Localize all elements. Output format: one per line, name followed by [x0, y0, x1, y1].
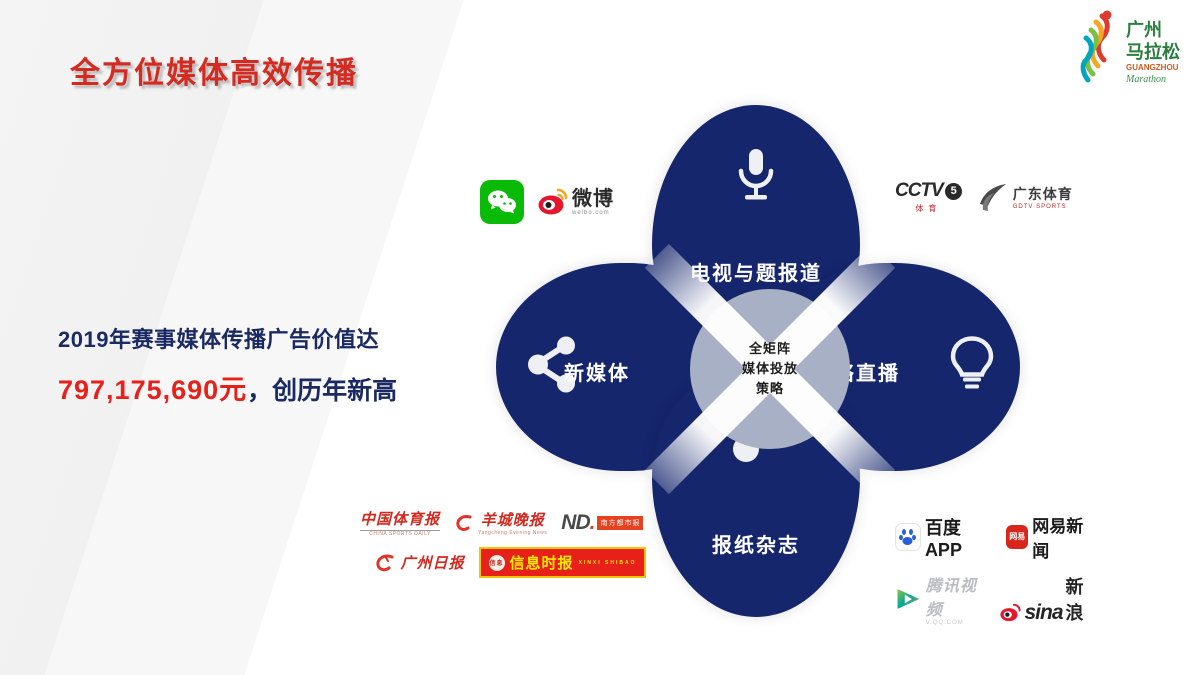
guangzhou-daily-logo: 广州日报: [374, 552, 465, 574]
yangcheng-cn: 羊城晚报: [481, 509, 545, 530]
wechat-icon: [480, 180, 524, 224]
logo-en-line2: Marathon: [1125, 74, 1166, 85]
logo-row: 百度APP 网易 网易新闻: [895, 512, 1095, 562]
sina-en-text: sina: [1024, 601, 1062, 625]
center-line-1: 全矩阵: [749, 339, 791, 359]
weibo-icon: [538, 188, 568, 216]
center-line-3: 策略: [756, 379, 784, 399]
gdtv-wordmark: 广东体育 GDTV SPORTS: [1013, 184, 1073, 210]
weibo-subtext: weibo.com: [572, 210, 614, 216]
tencent-video-cn: 腾讯视频: [926, 572, 987, 620]
statistic-suffix: ，创历年新高: [247, 377, 397, 405]
gdtv-en-text: GDTV SPORTS: [1013, 204, 1073, 210]
cctv5-logo: CCTV 5 体育: [895, 180, 962, 214]
statistic-caption: 2019年赛事媒体传播广告价值达: [58, 322, 397, 354]
tencent-video-wordmark: 腾讯视频 V.QQ.COM: [926, 572, 987, 626]
weibo-wordmark: 微博 weibo.com: [572, 189, 614, 216]
sina-logo: sina 新浪: [1000, 573, 1095, 625]
petal-label-new-media: 新媒体: [564, 357, 630, 386]
nd-letters: ND: [561, 511, 589, 534]
netease-icon: 网易: [1006, 525, 1028, 549]
tencent-video-en: V.QQ.COM: [926, 620, 987, 626]
sina-eye-icon: [1000, 601, 1021, 625]
slide-canvas: 全方位媒体高效传播 2019年赛事媒体传播广告价值达 797,175,690元，…: [0, 0, 1200, 675]
weibo-logo: 微博 weibo.com: [538, 188, 614, 216]
gdtv-cn-text: 广东体育: [1013, 184, 1073, 204]
logo-cluster-portals: 百度APP 网易 网易新闻: [895, 512, 1095, 636]
logo-row: 中国体育报 CHINA SPORTS DAILY 羊城晚报 Yangcheng …: [360, 508, 660, 537]
nd-bar-text: 南方都市报: [597, 516, 643, 530]
statistic-block: 2019年赛事媒体传播广告价值达 797,175,690元，创历年新高: [58, 322, 397, 407]
nd-dot: .: [590, 511, 595, 534]
yangcheng-wordmark: 羊城晚报 Yangcheng Evening News: [478, 509, 547, 536]
information-times-logo: 信息 信息时报 XINXI SHIBAO: [479, 547, 647, 578]
yangcheng-evening-news-logo: 羊城晚报 Yangcheng Evening News: [454, 509, 547, 536]
logo-row: CCTV 5 体育 广东体育 GDTV SPORTS: [895, 180, 1080, 214]
guangzhou-daily-swirl-icon: [374, 552, 396, 574]
logo-cn-line1: 广州: [1126, 19, 1162, 40]
gdtv-sports-logo: 广东体育 GDTV SPORTS: [976, 180, 1073, 214]
logo-cluster-social: 微博 weibo.com: [480, 180, 660, 234]
baidu-paw-icon: [895, 523, 921, 551]
cctv-text: CCTV: [895, 180, 943, 202]
baidu-app-logo: 百度APP: [895, 514, 992, 561]
center-line-2: 媒体投放: [742, 359, 798, 379]
yangcheng-en: Yangcheng Evening News: [478, 530, 547, 536]
gdtv-bird-icon: [976, 180, 1010, 214]
logo-cluster-newspapers: 中国体育报 CHINA SPORTS DAILY 羊城晚报 Yangcheng …: [360, 508, 660, 588]
sina-cn-text: 新浪: [1066, 573, 1095, 625]
wechat-logo: [480, 180, 524, 224]
page-title: 全方位媒体高效传播: [70, 48, 358, 92]
yangcheng-swirl-icon: [454, 513, 474, 533]
weibo-text: 微博: [572, 188, 614, 210]
china-sports-daily-cn: 中国体育报: [360, 508, 440, 529]
guangzhou-daily-cn: 广州日报: [401, 552, 465, 573]
netease-news-logo: 网易 网易新闻: [1006, 512, 1095, 562]
information-times-cn: 信息时报: [510, 552, 574, 573]
logo-cluster-tv: CCTV 5 体育 广东体育 GDTV SPORTS: [895, 180, 1080, 224]
logo-cn-line2: 马拉松: [1126, 41, 1180, 62]
logo-row: 微博 weibo.com: [480, 180, 660, 224]
logo-row: 腾讯视频 V.QQ.COM sina 新浪: [895, 572, 1095, 626]
guangzhou-marathon-logo: 广州 马拉松 GUANGZHOU Marathon: [1074, 8, 1186, 90]
statistic-amount: 797,175,690元: [58, 375, 247, 405]
information-times-sub: XINXI SHIBAO: [579, 560, 637, 566]
statistic-value-line: 797,175,690元，创历年新高: [58, 368, 397, 407]
cctv-channel-number: 5: [945, 183, 962, 200]
microphone-icon: [733, 147, 779, 210]
netease-news-text: 网易新闻: [1032, 512, 1095, 562]
nanfang-metropolis-daily-logo: ND. 南方都市报: [561, 511, 643, 535]
logo-en-line1: GUANGZHOU: [1126, 63, 1179, 72]
cctv5-wordmark: CCTV 5: [895, 180, 962, 202]
baidu-app-text: 百度APP: [925, 514, 992, 561]
china-sports-daily-en: CHINA SPORTS DAILY: [369, 531, 431, 537]
cctv-sub-label: 体育: [915, 203, 941, 214]
logo-row: 广州日报 信息 信息时报 XINXI SHIBAO: [360, 547, 660, 578]
petal-label-newspaper: 报纸杂志: [652, 529, 860, 558]
china-sports-daily-logo: 中国体育报 CHINA SPORTS DAILY: [360, 508, 440, 537]
nd-mark: ND.: [561, 511, 594, 535]
lightbulb-icon: [950, 336, 994, 399]
center-strategy-label: 全矩阵 媒体投放 策略: [690, 289, 850, 449]
tencent-video-logo: 腾讯视频 V.QQ.COM: [895, 572, 986, 626]
tencent-video-play-icon: [895, 586, 922, 612]
marathon-runner-icon: [1083, 11, 1111, 81]
information-times-seal: 信息: [489, 555, 505, 571]
